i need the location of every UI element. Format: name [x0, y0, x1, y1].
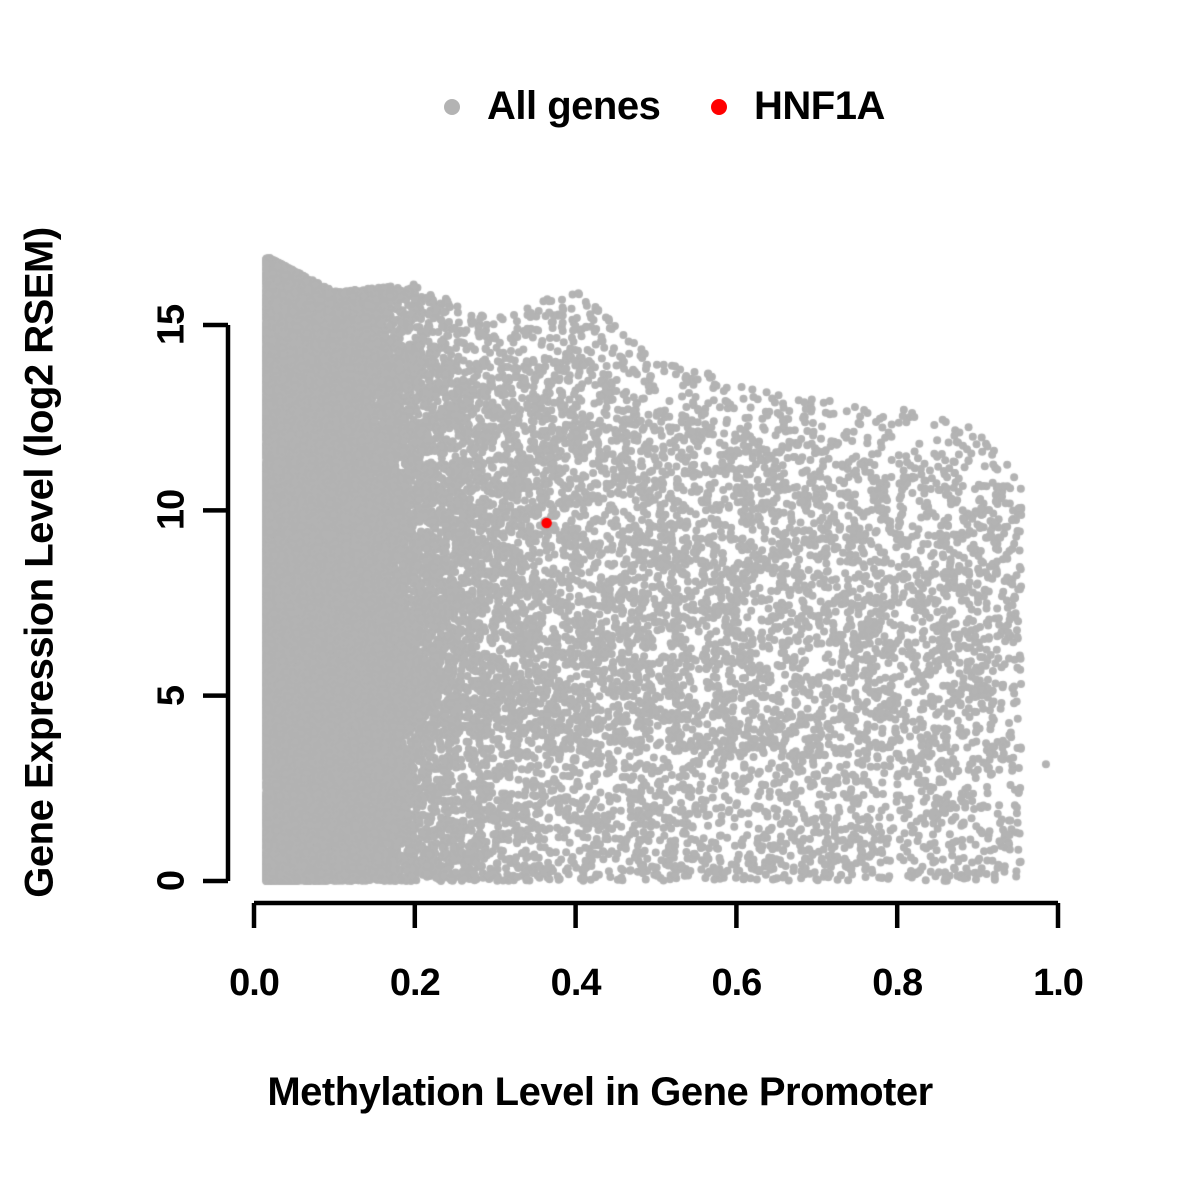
x-tick-label: 0.6	[711, 962, 761, 1005]
y-axis-title: Gene Expression Level (log2 RSEM)	[18, 143, 63, 983]
scatter-plot-figure: All genes HNF1A 0.00.20.40.60.81.0 05101…	[0, 0, 1200, 1200]
chart-axes	[0, 0, 1200, 1200]
x-tick-label: 0.8	[872, 962, 922, 1005]
y-tick-label: 5	[151, 686, 194, 706]
x-tick-label: 0.0	[229, 962, 279, 1005]
y-tick-label: 0	[151, 871, 194, 891]
x-tick-label: 0.2	[390, 962, 440, 1005]
y-tick-label: 15	[151, 305, 194, 345]
x-axis-title: Methylation Level in Gene Promoter	[0, 1070, 1200, 1115]
x-tick-label: 1.0	[1033, 962, 1083, 1005]
x-tick-label: 0.4	[551, 962, 601, 1005]
y-tick-label: 10	[151, 490, 194, 530]
